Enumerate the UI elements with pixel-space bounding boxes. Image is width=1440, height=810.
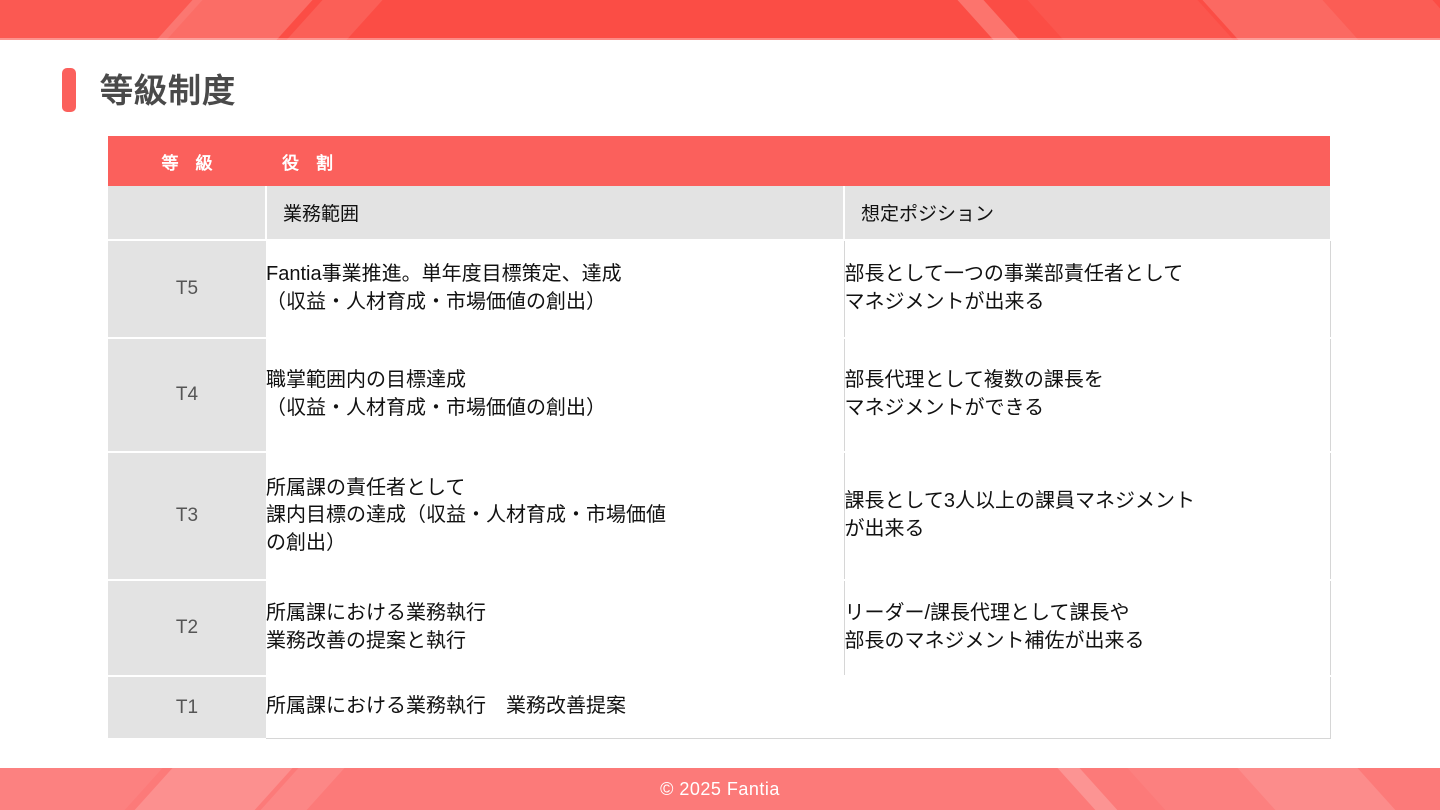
subheader-label-scope: 業務範囲: [267, 186, 843, 239]
header-cell-grade: 等 級: [108, 136, 266, 186]
scope-line: 課内目標の達成（収益・人材育成・市場価値: [266, 502, 844, 530]
subheader-cell-scope: 業務範囲: [266, 186, 844, 240]
position-line: マネジメントができる: [845, 395, 1330, 423]
header-cell-role: 役 割: [266, 136, 1330, 186]
slide-title-group: 等級制度: [62, 68, 236, 112]
subheader-cell-grade: [108, 186, 266, 240]
table-row: T1 所属課における業務執行 業務改善提案: [108, 676, 1330, 738]
table-row: T3 所属課の責任者として 課内目標の達成（収益・人材育成・市場価値 の創出） …: [108, 452, 1330, 580]
table-row: T2 所属課における業務執行 業務改善の提案と執行 リーダー/課長代理として課長…: [108, 580, 1330, 676]
position-line: 部長のマネジメント補佐が出来る: [845, 628, 1330, 656]
scope-cell: Fantia事業推進。単年度目標策定、達成 （収益・人材育成・市場価値の創出）: [266, 240, 844, 338]
position-cell: 課長として3人以上の課員マネジメント が出来る: [844, 452, 1330, 580]
position-cell: 部長として一つの事業部責任者として マネジメントが出来る: [844, 240, 1330, 338]
grade-system-table: 等 級 役 割 業務範囲 想定ポジション T5 Fantia事業推進。単年度目標…: [108, 136, 1331, 739]
scope-line: 所属課における業務執行: [266, 600, 844, 628]
scope-cell: 所属課の責任者として 課内目標の達成（収益・人材育成・市場価値 の創出）: [266, 452, 844, 580]
scope-line: 職掌範囲内の目標達成: [266, 367, 844, 395]
scope-line: 業務改善の提案と執行: [266, 628, 844, 656]
title-accent-bar: [62, 68, 76, 112]
table-row: T5 Fantia事業推進。単年度目標策定、達成 （収益・人材育成・市場価値の創…: [108, 240, 1330, 338]
grade-label: T5: [108, 240, 266, 338]
position-line: 部長代理として複数の課長を: [845, 367, 1330, 395]
position-line: 部長として一つの事業部責任者として: [845, 261, 1330, 289]
copyright-text: © 2025 Fantia: [0, 768, 1440, 810]
scope-cell: 職掌範囲内の目標達成 （収益・人材育成・市場価値の創出）: [266, 338, 844, 452]
grade-label: T1: [108, 676, 266, 738]
grade-label: T4: [108, 338, 266, 452]
scope-line: 所属課の責任者として: [266, 475, 844, 503]
header-label-grade: 等 級: [108, 136, 266, 186]
top-decorative-banner: [0, 0, 1440, 40]
scope-cell: 所属課における業務執行 業務改善の提案と執行: [266, 580, 844, 676]
scope-line: （収益・人材育成・市場価値の創出）: [266, 395, 844, 423]
table-row: T4 職掌範囲内の目標達成 （収益・人材育成・市場価値の創出） 部長代理として複…: [108, 338, 1330, 452]
position-cell: リーダー/課長代理として課長や 部長のマネジメント補佐が出来る: [844, 580, 1330, 676]
scope-line: （収益・人材育成・市場価値の創出）: [266, 289, 844, 317]
scope-line: 所属課における業務執行 業務改善提案: [266, 693, 1330, 721]
position-cell: 部長代理として複数の課長を マネジメントができる: [844, 338, 1330, 452]
footer-band: © 2025 Fantia: [0, 768, 1440, 810]
position-line: マネジメントが出来る: [845, 289, 1330, 317]
banner-underline: [0, 38, 1440, 40]
scope-cell: 所属課における業務執行 業務改善提案: [266, 676, 1330, 738]
position-line: リーダー/課長代理として課長や: [845, 600, 1330, 628]
position-line: 課長として3人以上の課員マネジメント: [845, 488, 1330, 516]
subheader-label-grade: [108, 186, 265, 239]
position-line: が出来る: [845, 516, 1330, 544]
scope-line: Fantia事業推進。単年度目標策定、達成: [266, 261, 844, 289]
grade-label: T2: [108, 580, 266, 676]
header-label-role: 役 割: [266, 136, 1330, 186]
table-header-row: 等 級 役 割: [108, 136, 1330, 186]
page-title: 等級制度: [100, 74, 236, 107]
subheader-label-position: 想定ポジション: [845, 186, 1330, 239]
grade-label: T3: [108, 452, 266, 580]
scope-line: の創出）: [266, 530, 844, 558]
subheader-cell-position: 想定ポジション: [844, 186, 1330, 240]
table-subheader-row: 業務範囲 想定ポジション: [108, 186, 1330, 240]
